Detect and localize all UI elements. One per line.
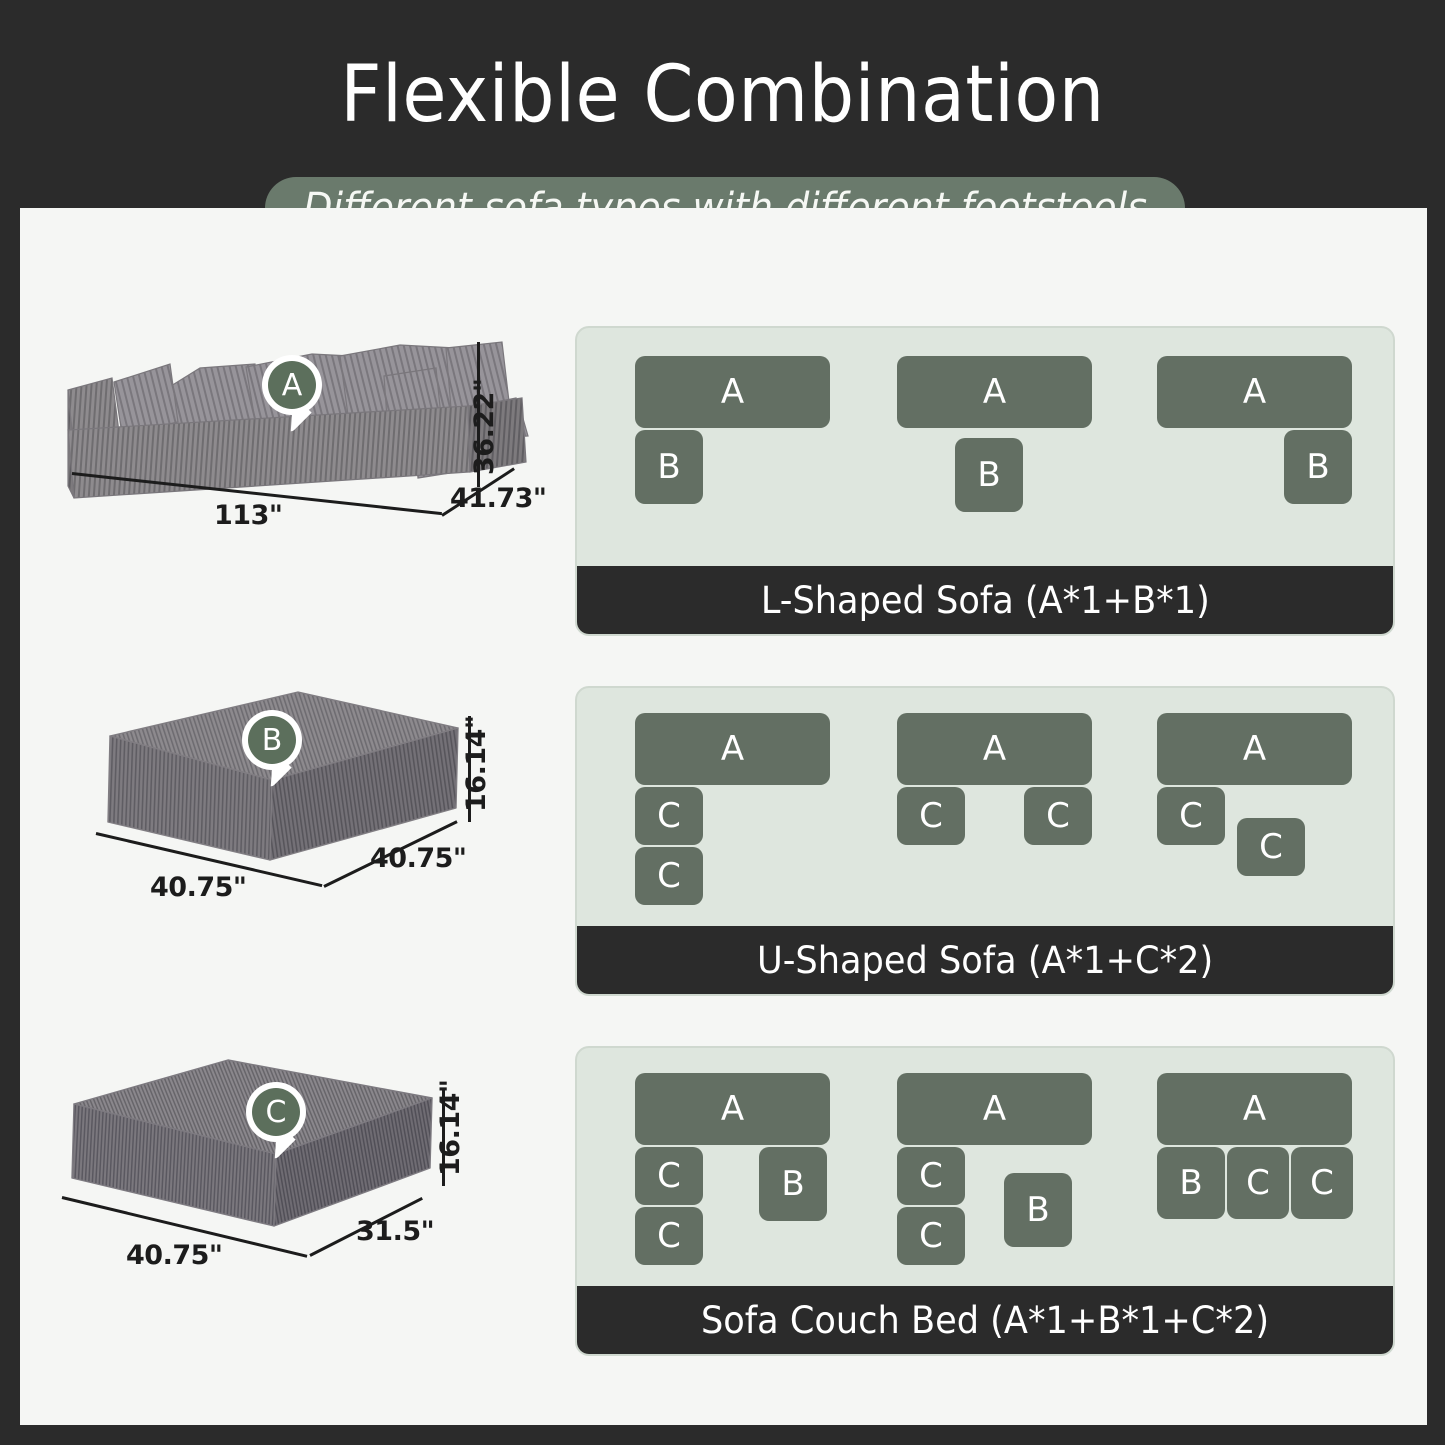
module-block-a: A xyxy=(635,713,830,785)
module-block-b: B xyxy=(1157,1147,1225,1219)
config-panel-caption: L-Shaped Sofa (A*1+B*1) xyxy=(577,566,1393,634)
module-block-a: A xyxy=(1157,713,1352,785)
module-block-a: A xyxy=(897,356,1092,428)
config-caption-text: Sofa Couch Bed (A*1+B*1+C*2) xyxy=(701,1299,1269,1342)
module-block-c: C xyxy=(635,1147,703,1205)
module-block-a: A xyxy=(1157,356,1352,428)
module-block-b: B xyxy=(955,438,1023,512)
module-block-a: A xyxy=(635,1073,830,1145)
module-block-c: C xyxy=(635,1207,703,1265)
infographic-root: Flexible Combination Different sofa type… xyxy=(0,0,1445,1445)
dim-label-height-b: 16.14" xyxy=(461,716,492,812)
module-block-a: A xyxy=(1157,1073,1352,1145)
config-panel-l-shaped: ABABAB L-Shaped Sofa (A*1+B*1) xyxy=(575,326,1395,636)
module-block-b: B xyxy=(1004,1173,1072,1247)
module-block-a: A xyxy=(635,356,830,428)
dim-label-depth-b: 40.75" xyxy=(370,843,466,874)
product-image-c: C 16.14" 40.75" 31.5" xyxy=(50,1040,580,1400)
module-block-c: C xyxy=(897,787,965,845)
product-image-b: B 16.14" 40.75" 40.75" xyxy=(50,680,580,1040)
pin-label: A xyxy=(268,361,316,409)
page-title: Flexible Combination xyxy=(58,56,1387,134)
config-caption-text: L-Shaped Sofa (A*1+B*1) xyxy=(760,579,1209,622)
config-panel-sofa-couch-bed: ACCBACCBABCC Sofa Couch Bed (A*1+B*1+C*2… xyxy=(575,1046,1395,1356)
ottoman-c-illustration xyxy=(50,1040,580,1400)
config-panel-u-shaped: ACCACCACC U-Shaped Sofa (A*1+C*2) xyxy=(575,686,1395,996)
product-row-c: C 16.14" 40.75" 31.5" ACCBACCBABCC Sofa … xyxy=(20,1040,1427,1400)
pin-label: B xyxy=(248,716,296,764)
content-canvas: A 36.22" 113" 41.73" ABABAB L-Shaped Sof… xyxy=(20,208,1427,1425)
module-block-a: A xyxy=(897,1073,1092,1145)
dim-label-width-a: 113" xyxy=(214,500,282,531)
pin-label: C xyxy=(252,1088,300,1136)
badge-pin-b: B xyxy=(242,710,302,786)
module-block-c: C xyxy=(897,1207,965,1265)
module-block-b: B xyxy=(1284,430,1352,504)
dim-label-height-a: 36.22" xyxy=(469,379,500,475)
config-panel-body: ACCACCACC xyxy=(577,688,1393,932)
module-block-c: C xyxy=(635,787,703,845)
config-panel-caption: U-Shaped Sofa (A*1+C*2) xyxy=(577,926,1393,994)
module-block-c: C xyxy=(897,1147,965,1205)
module-block-c: C xyxy=(635,847,703,905)
module-block-c: C xyxy=(1157,787,1225,845)
dim-label-depth-c: 31.5" xyxy=(356,1216,434,1247)
config-panel-body: ACCBACCBABCC xyxy=(577,1048,1393,1292)
module-block-a: A xyxy=(897,713,1092,785)
dim-label-height-c: 16.14" xyxy=(435,1080,466,1176)
module-block-b: B xyxy=(759,1147,827,1221)
product-row-a: A 36.22" 113" 41.73" ABABAB L-Shaped Sof… xyxy=(20,320,1427,680)
config-panel-caption: Sofa Couch Bed (A*1+B*1+C*2) xyxy=(577,1286,1393,1354)
module-block-c: C xyxy=(1291,1147,1353,1219)
dim-label-width-c: 40.75" xyxy=(126,1240,222,1271)
config-panel-body: ABABAB xyxy=(577,328,1393,572)
product-image-a: A 36.22" 113" 41.73" xyxy=(50,320,580,680)
module-block-c: C xyxy=(1227,1147,1289,1219)
module-block-b: B xyxy=(635,430,703,504)
module-block-c: C xyxy=(1024,787,1092,845)
module-block-c: C xyxy=(1237,818,1305,876)
dim-label-width-b: 40.75" xyxy=(150,872,246,903)
dim-label-depth-a: 41.73" xyxy=(450,483,546,514)
ottoman-b-illustration xyxy=(50,680,580,1040)
badge-pin-a: A xyxy=(262,355,322,431)
badge-pin-c: C xyxy=(246,1082,306,1158)
product-row-b: B 16.14" 40.75" 40.75" ACCACCACC U-Shape… xyxy=(20,680,1427,1040)
config-caption-text: U-Shaped Sofa (A*1+C*2) xyxy=(757,939,1213,982)
